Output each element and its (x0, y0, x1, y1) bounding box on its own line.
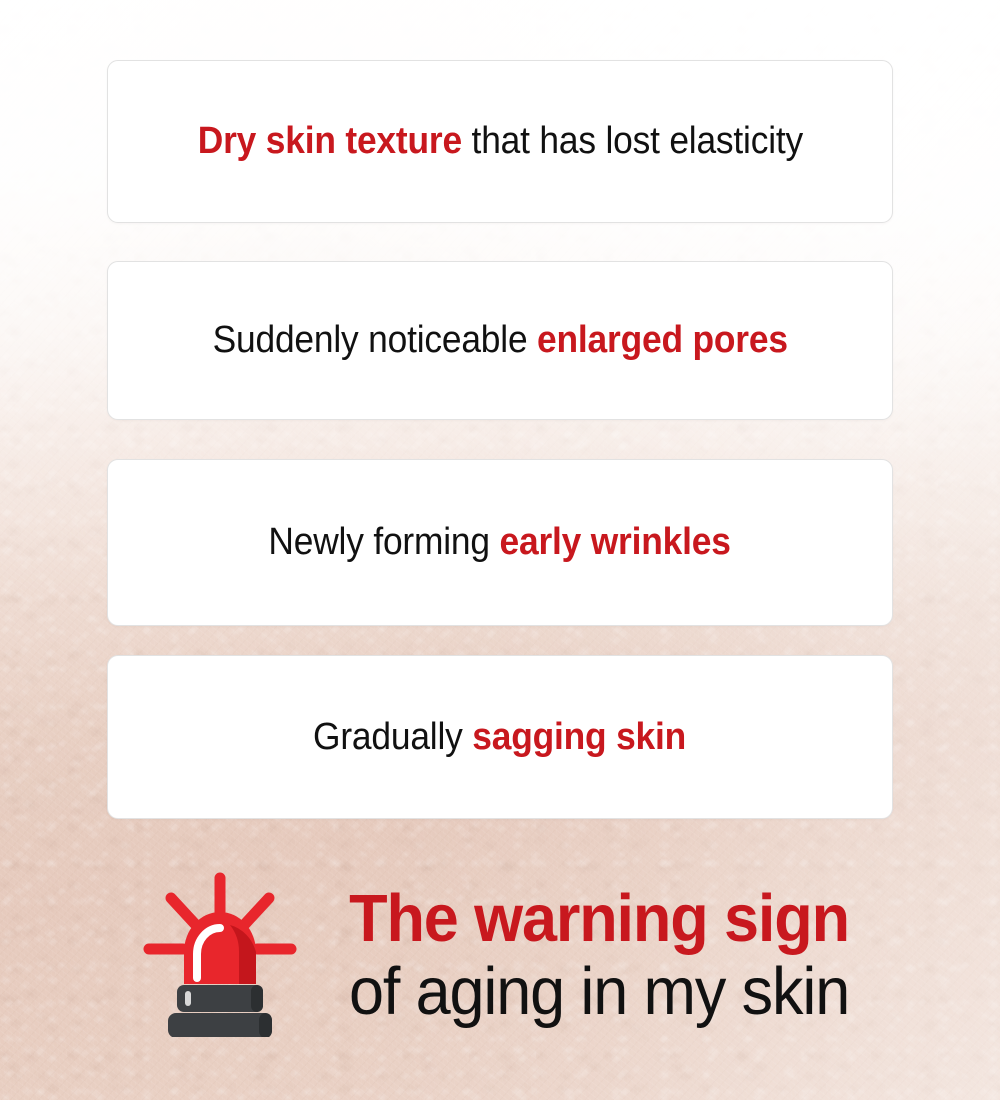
headline-line-2: of aging in my skin (349, 958, 849, 1025)
warning-banner: The warning sign of aging in my skin (0, 862, 1000, 1047)
siren-icon-glyph (135, 872, 315, 1037)
symptom-plain-prefix: Gradually (313, 716, 472, 758)
siren-base-notch (185, 991, 191, 1006)
symptom-highlight: Dry skin texture (197, 120, 461, 162)
symptom-plain-prefix: Suddenly noticeable (212, 319, 536, 361)
symptom-card-enlarged-pores[interactable]: Suddenly noticeable enlarged pores (107, 261, 893, 420)
warning-headline: The warning sign of aging in my skin (333, 885, 865, 1025)
symptom-highlight: enlarged pores (537, 319, 788, 361)
symptom-card-text: Gradually sagging skin (313, 715, 686, 760)
symptom-card-early-wrinkles[interactable]: Newly forming early wrinkles (107, 459, 893, 626)
symptom-card-sagging-skin[interactable]: Gradually sagging skin (107, 655, 893, 819)
headline-line-1: The warning sign (349, 885, 849, 952)
siren-base-bottom (168, 1013, 272, 1037)
symptom-highlight: early wrinkles (500, 521, 731, 563)
symptom-card-text: Suddenly noticeable enlarged pores (212, 318, 787, 363)
siren-base-bottom-shadow (259, 1013, 272, 1037)
symptom-plain-prefix: Newly forming (269, 521, 500, 563)
symptom-card-text: Newly forming early wrinkles (269, 520, 731, 565)
poster-canvas: Dry skin texture that has lost elasticit… (0, 0, 1000, 1100)
symptom-card-dry-skin-texture[interactable]: Dry skin texture that has lost elasticit… (107, 60, 893, 223)
symptom-card-text: Dry skin texture that has lost elasticit… (197, 119, 802, 164)
siren-base-top-shadow (251, 985, 263, 1012)
symptom-highlight: sagging skin (473, 716, 687, 758)
siren-icon (135, 872, 315, 1037)
symptom-plain-suffix: that has lost elasticity (462, 120, 803, 162)
